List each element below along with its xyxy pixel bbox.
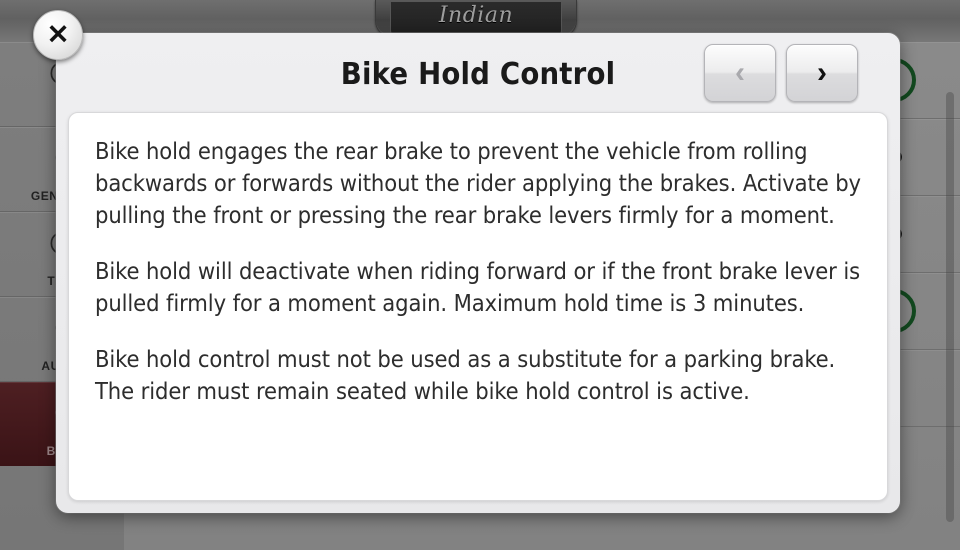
close-icon: ✕ [34,22,82,49]
help-modal: Bike Hold Control ‹ › Bike hold engages … [56,33,900,513]
paragraph-3: Bike hold control must not be used as a … [95,343,861,407]
paragraph-1: Bike hold engages the rear brake to prev… [95,135,861,231]
brand-badge-text: Indian [376,3,576,28]
app-root: Indian ◎ ● GENERAL ◎ TRIP ● AUDIO ◐ BIKE [0,0,960,550]
close-button[interactable]: ✕ [33,10,83,60]
paragraph-2: Bike hold will deactivate when riding fo… [95,255,861,319]
scrollbar[interactable] [946,92,954,522]
chevron-left-icon: ‹ [705,58,775,88]
chevron-right-icon: › [787,58,857,88]
modal-content-panel: Bike hold engages the rear brake to prev… [68,112,888,501]
brand-badge: Indian [375,0,577,37]
previous-page-button[interactable]: ‹ [704,44,776,102]
next-page-button[interactable]: › [786,44,858,102]
